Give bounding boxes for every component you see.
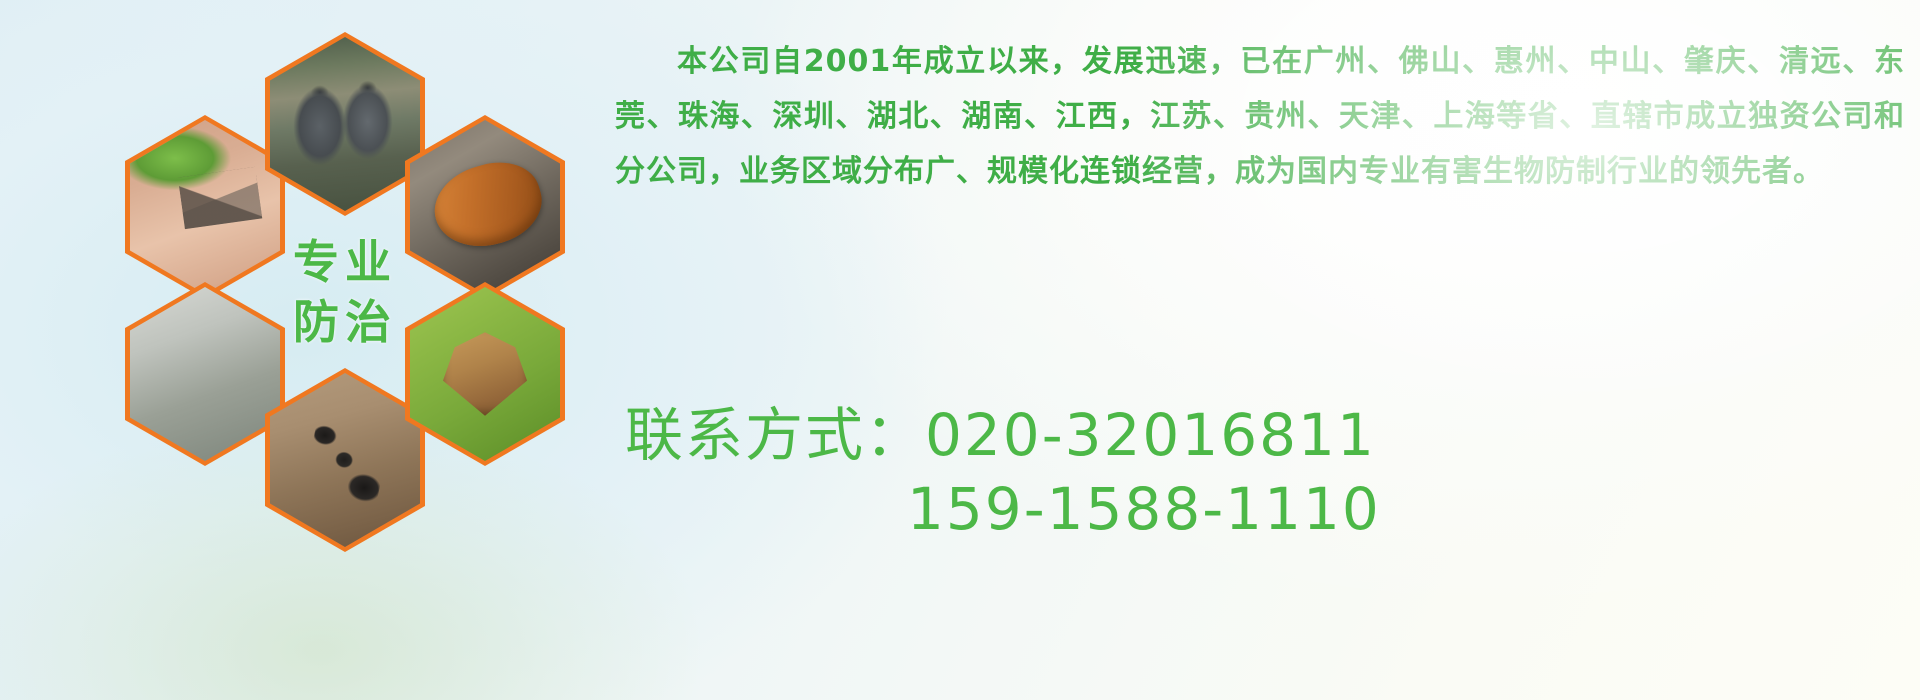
hex-cell-mosquito <box>125 115 285 299</box>
contact-primary-phone[interactable]: 联系方式：020-32016811 <box>615 398 1905 472</box>
cluster-headline-line-1: 专业 <box>293 239 397 285</box>
hex-photo-cluster: 专业 防治 <box>95 10 595 590</box>
hex-inner-rat <box>270 37 420 211</box>
copy-column: 本公司自2001年成立以来，发展迅速，已在广州、佛山、惠州、中山、肇庆、清远、东… <box>615 34 1905 199</box>
contact-block: 联系方式：020-32016811 159-1588-1110 <box>615 398 1905 546</box>
contact-secondary-phone[interactable]: 159-1588-1110 <box>615 472 1905 546</box>
cluster-headline-line-2: 防治 <box>293 299 397 345</box>
cockroach-photo <box>410 120 560 294</box>
hex-cell-center-label: 专业 防治 <box>265 200 425 384</box>
hex-cell-ant <box>265 368 425 552</box>
hex-cell-flies <box>125 282 285 466</box>
hex-inner-flies <box>130 287 280 461</box>
stinkbug-photo <box>410 287 560 461</box>
cluster-headline: 专业 防治 <box>265 200 425 384</box>
hex-inner-mosquito <box>130 120 280 294</box>
intro-paragraph: 本公司自2001年成立以来，发展迅速，已在广州、佛山、惠州、中山、肇庆、清远、东… <box>615 34 1905 199</box>
hex-inner-cockroach <box>410 120 560 294</box>
hex-inner-ant <box>270 373 420 547</box>
mosquito-photo <box>130 120 280 294</box>
hex-cell-cockroach <box>405 115 565 299</box>
hex-cell-stinkbug <box>405 282 565 466</box>
rat-photo <box>270 37 420 211</box>
hex-inner-stinkbug <box>410 287 560 461</box>
ant-photo <box>270 373 420 547</box>
flies-photo <box>130 287 280 461</box>
hex-cell-rat <box>265 32 425 216</box>
promo-banner: 专业 防治 本公司自2001年成立以来，发展迅速，已在广州、佛山、惠州、中山、肇… <box>0 0 1920 700</box>
